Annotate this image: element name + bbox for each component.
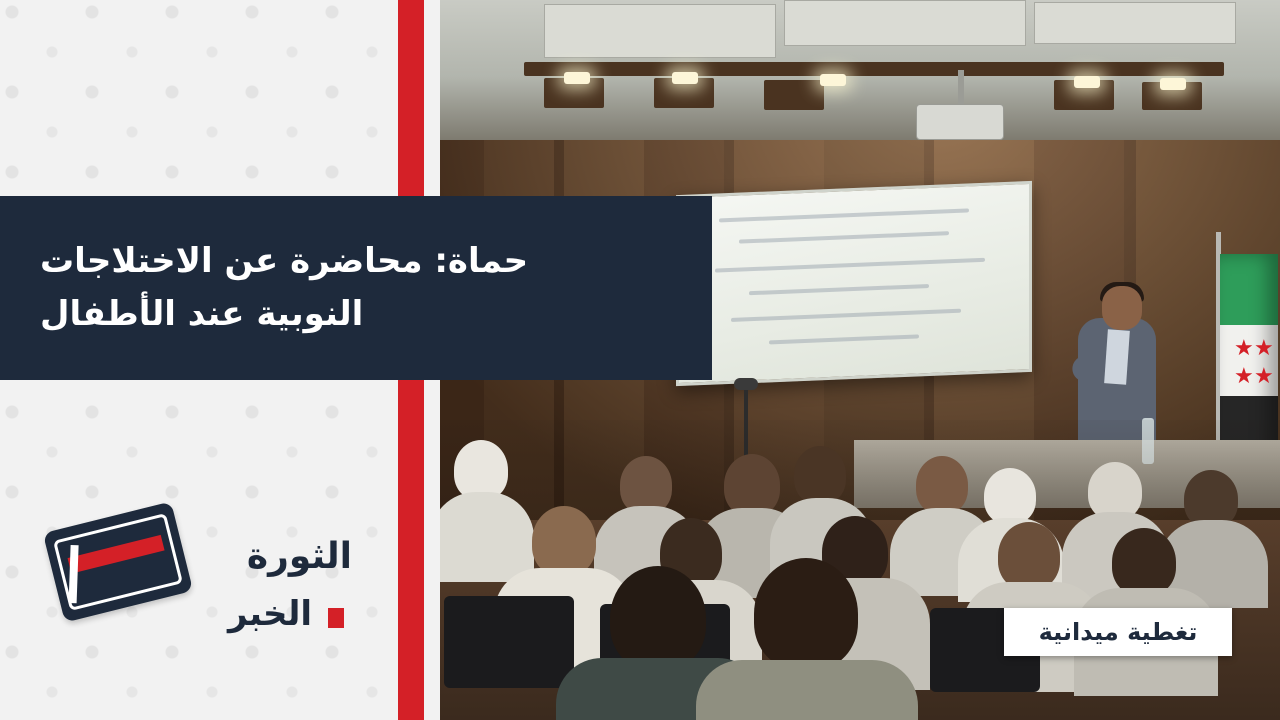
projector-icon bbox=[916, 104, 1004, 140]
ceiling-beam bbox=[524, 62, 1224, 76]
ceiling-light-icon bbox=[820, 74, 846, 86]
logo-red-dot bbox=[328, 608, 344, 628]
ceiling-beam bbox=[764, 80, 824, 110]
audience-area bbox=[424, 420, 1280, 720]
channel-logo: الثورة الخبر bbox=[52, 508, 352, 664]
title-line-1: حماة: محاضرة عن الاختلاجات bbox=[40, 235, 528, 288]
logo-word-top: الثورة bbox=[247, 536, 352, 577]
ceiling-light-icon bbox=[1074, 76, 1100, 88]
broadcast-frame: ★ ★ ★ ★ bbox=[0, 0, 1280, 720]
speaker-shirt bbox=[1104, 329, 1130, 384]
microphone-icon bbox=[734, 378, 758, 390]
logo-word-bottom: الخبر bbox=[228, 594, 312, 634]
projection-screen bbox=[676, 181, 1032, 386]
lower-third-title: حماة: محاضرة عن الاختلاجات النوبية عند ا… bbox=[0, 196, 712, 380]
ceiling-panel bbox=[544, 4, 776, 58]
coverage-badge: تغطية ميدانية bbox=[1004, 608, 1232, 656]
ceiling-light-icon bbox=[672, 72, 698, 84]
projector-mount bbox=[958, 70, 964, 108]
ceiling-panel bbox=[1034, 2, 1236, 44]
microphone-logo-icon bbox=[43, 501, 193, 622]
speaker-head bbox=[1102, 286, 1142, 330]
ceiling-light-icon bbox=[564, 72, 590, 84]
ceiling-panel bbox=[784, 0, 1026, 46]
coverage-badge-label: تغطية ميدانية bbox=[1039, 618, 1198, 646]
title-line-2: النوبية عند الأطفال bbox=[40, 288, 363, 341]
ceiling-light-icon bbox=[1160, 78, 1186, 90]
